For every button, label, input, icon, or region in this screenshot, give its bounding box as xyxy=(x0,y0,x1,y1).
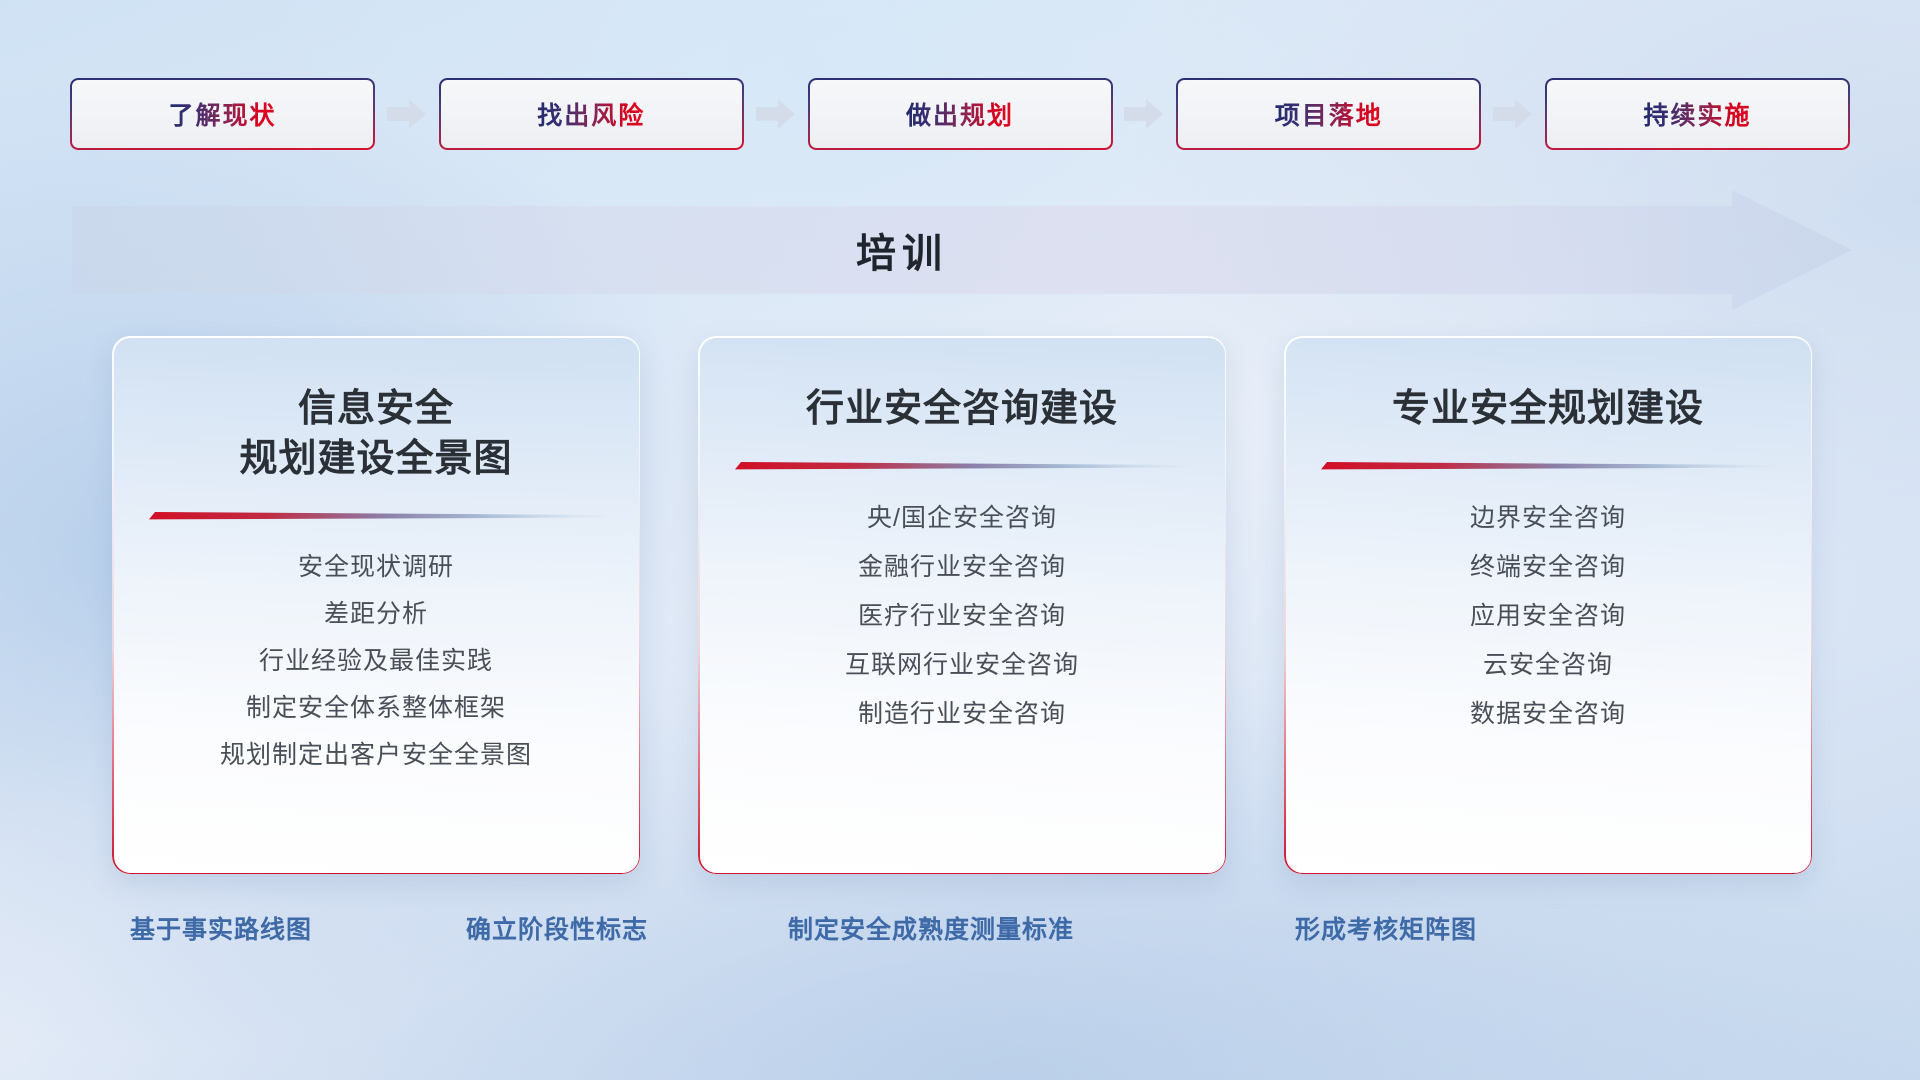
card-industry-security-consulting[interactable]: 行业安全咨询建设 央/国企安全咨询 xyxy=(698,336,1226,874)
card-title: 信息安全 规划建设全景图 xyxy=(239,384,512,484)
card-list-item: 金融行业安全咨询 xyxy=(728,543,1196,592)
card-list-item: 边界安全咨询 xyxy=(1314,494,1782,543)
step-label: 了解现状 xyxy=(168,96,276,132)
card-title: 行业安全咨询建设 xyxy=(806,384,1118,434)
card-title: 专业安全规划建设 xyxy=(1392,384,1704,434)
chevron-right-arrow-icon xyxy=(755,97,797,131)
step-label: 做出规划 xyxy=(906,96,1014,132)
card-list-item: 云安全咨询 xyxy=(1314,641,1782,690)
training-banner-label: 培训 xyxy=(72,190,1732,310)
card-list-item: 医疗行业安全咨询 xyxy=(728,592,1196,641)
card-item-list: 边界安全咨询 终端安全咨询 应用安全咨询 云安全咨询 数据安全咨询 xyxy=(1314,494,1782,739)
card-list-item: 央/国企安全咨询 xyxy=(728,494,1196,543)
step-label: 项目落地 xyxy=(1275,96,1383,132)
step-label: 找出风险 xyxy=(537,96,645,132)
card-list-item: 行业经验及最佳实践 xyxy=(142,638,610,685)
step-box-3[interactable]: 项目落地 xyxy=(1176,78,1481,150)
card-divider xyxy=(735,460,1190,472)
caption-assessment-matrix: 形成考核矩阵图 xyxy=(1295,910,1477,946)
card-divider xyxy=(1321,460,1776,472)
card-item-list: 央/国企安全咨询 金融行业安全咨询 医疗行业安全咨询 互联网行业安全咨询 制造行… xyxy=(728,494,1196,739)
card-professional-security-planning[interactable]: 专业安全规划建设 边界安全咨询 xyxy=(1284,336,1812,874)
card-list-item: 数据安全咨询 xyxy=(1314,690,1782,739)
card-list-item: 安全现状调研 xyxy=(142,544,610,591)
card-list-item: 制造行业安全咨询 xyxy=(728,690,1196,739)
step-box-1[interactable]: 找出风险 xyxy=(439,78,744,150)
step-box-2[interactable]: 做出规划 xyxy=(808,78,1113,150)
caption-phase-milestones: 确立阶段性标志 xyxy=(466,910,648,946)
card-item-list: 安全现状调研 差距分析 行业经验及最佳实践 制定安全体系整体框架 规划制定出客户… xyxy=(142,544,610,779)
process-step-row: 了解现状 找出风险 做出规划 项目落地 xyxy=(70,78,1850,150)
step-box-0[interactable]: 了解现状 xyxy=(70,78,375,150)
card-list-item: 规划制定出客户安全全景图 xyxy=(142,732,610,779)
chevron-right-arrow-icon xyxy=(1492,97,1534,131)
step-box-4[interactable]: 持续实施 xyxy=(1545,78,1850,150)
card-list-item: 应用安全咨询 xyxy=(1314,592,1782,641)
training-banner: 培训 xyxy=(72,190,1852,310)
caption-fact-based-roadmap: 基于事实路线图 xyxy=(130,910,312,946)
card-list-item: 互联网行业安全咨询 xyxy=(728,641,1196,690)
chevron-right-arrow-icon xyxy=(1123,97,1165,131)
card-information-security-blueprint[interactable]: 信息安全 规划建设全景图 安全现状调研 xyxy=(112,336,640,874)
card-row: 信息安全 规划建设全景图 安全现状调研 xyxy=(112,336,1812,874)
chevron-right-arrow-icon xyxy=(386,97,428,131)
card-divider xyxy=(149,510,604,522)
slide-canvas: 了解现状 找出风险 做出规划 项目落地 xyxy=(0,0,1920,1080)
step-label: 持续实施 xyxy=(1643,96,1751,132)
card-list-item: 终端安全咨询 xyxy=(1314,543,1782,592)
caption-maturity-standard: 制定安全成熟度测量标准 xyxy=(788,910,1074,946)
card-list-item: 差距分析 xyxy=(142,591,610,638)
caption-row: 基于事实路线图 确立阶段性标志 制定安全成熟度测量标准 形成考核矩阵图 xyxy=(0,910,1920,960)
card-list-item: 制定安全体系整体框架 xyxy=(142,685,610,732)
